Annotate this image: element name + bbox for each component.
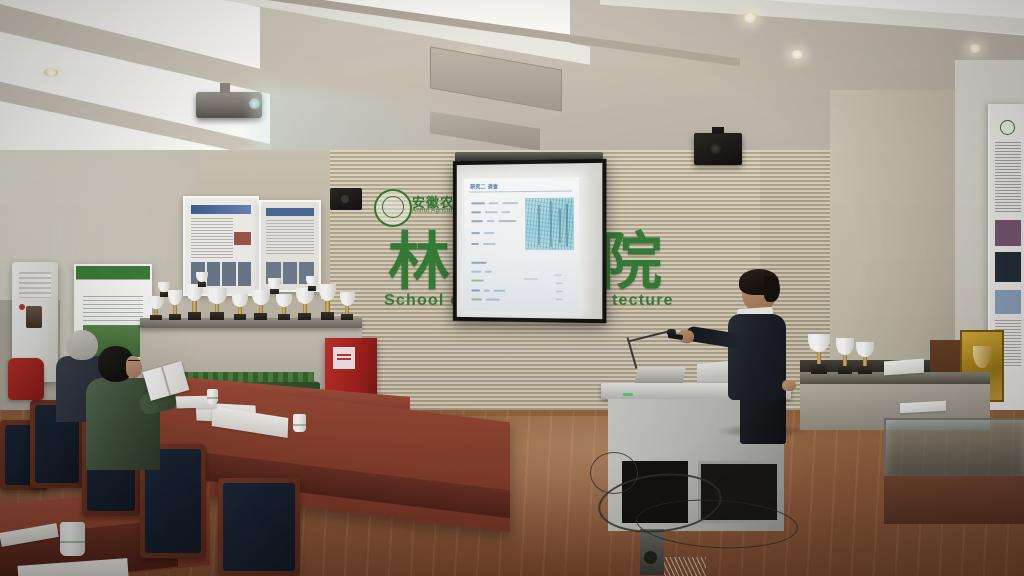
trophy <box>808 334 830 374</box>
wall-sign-cn-right: 院 <box>600 232 668 294</box>
ceiling-downlight <box>742 12 758 23</box>
presentation-slide: 研究二 调查 <box>464 177 580 312</box>
lecture-hall-photo: 安徽农业大学 Anhui Agricultural University 林学 … <box>0 0 1024 576</box>
trophy <box>340 292 355 320</box>
trophy <box>168 290 182 320</box>
audience-member-head <box>66 330 98 360</box>
presenter-hand-resting <box>782 380 796 391</box>
projection-screen: 研究二 调查 <box>453 159 607 324</box>
trophy <box>158 282 170 298</box>
poster-logo-icon <box>1000 120 1015 135</box>
red-bag <box>8 358 44 400</box>
trophy <box>856 342 874 374</box>
display-case-base <box>884 476 1024 524</box>
projector-lens-icon <box>249 98 260 109</box>
trophy <box>276 294 292 320</box>
air-conditioner-display-panel <box>26 306 42 328</box>
paper-cup <box>207 389 218 404</box>
chair <box>218 478 300 576</box>
university-emblem-icon <box>374 189 412 227</box>
status-led-icon <box>623 393 633 396</box>
trophy <box>148 296 164 320</box>
trophy <box>232 294 248 320</box>
paper-cup <box>60 522 85 556</box>
poster-board-left-1 <box>183 196 259 296</box>
trophy <box>836 338 854 374</box>
air-conditioner-grille <box>19 272 51 298</box>
slide-title: 研究二 调查 <box>470 183 498 190</box>
fire-cabinet-label <box>333 347 355 369</box>
trophy <box>207 288 227 320</box>
wall-speaker-icon <box>330 188 362 210</box>
presenter-jacket <box>728 314 786 400</box>
ceiling-air-vent <box>430 111 540 150</box>
presenter-legs <box>740 394 786 444</box>
presenter-hair-side <box>764 276 780 302</box>
projector-mount <box>220 83 230 93</box>
wall-speaker-icon <box>694 133 742 165</box>
cable-bundle <box>664 557 706 576</box>
ceiling-downlight <box>44 68 58 77</box>
ceiling-downlight <box>790 50 804 59</box>
trophy <box>186 284 203 320</box>
trophy <box>296 288 314 320</box>
glass-display-case <box>884 418 1024 482</box>
trophy <box>306 276 318 292</box>
wall-sign-en-right: tecture <box>612 292 674 310</box>
trophy <box>268 278 281 296</box>
ceiling-downlight <box>968 44 982 53</box>
paper-cup <box>293 414 306 432</box>
eyeglasses-icon <box>128 360 140 365</box>
trophy <box>319 284 336 320</box>
presenter <box>718 272 804 432</box>
ceiling-projector <box>196 92 262 118</box>
air-conditioner-logo-icon <box>19 304 25 310</box>
slide-photo-forest-plot <box>525 198 574 250</box>
trophy <box>196 272 208 288</box>
floor-cable <box>590 452 638 494</box>
stacked-documents <box>884 359 924 376</box>
